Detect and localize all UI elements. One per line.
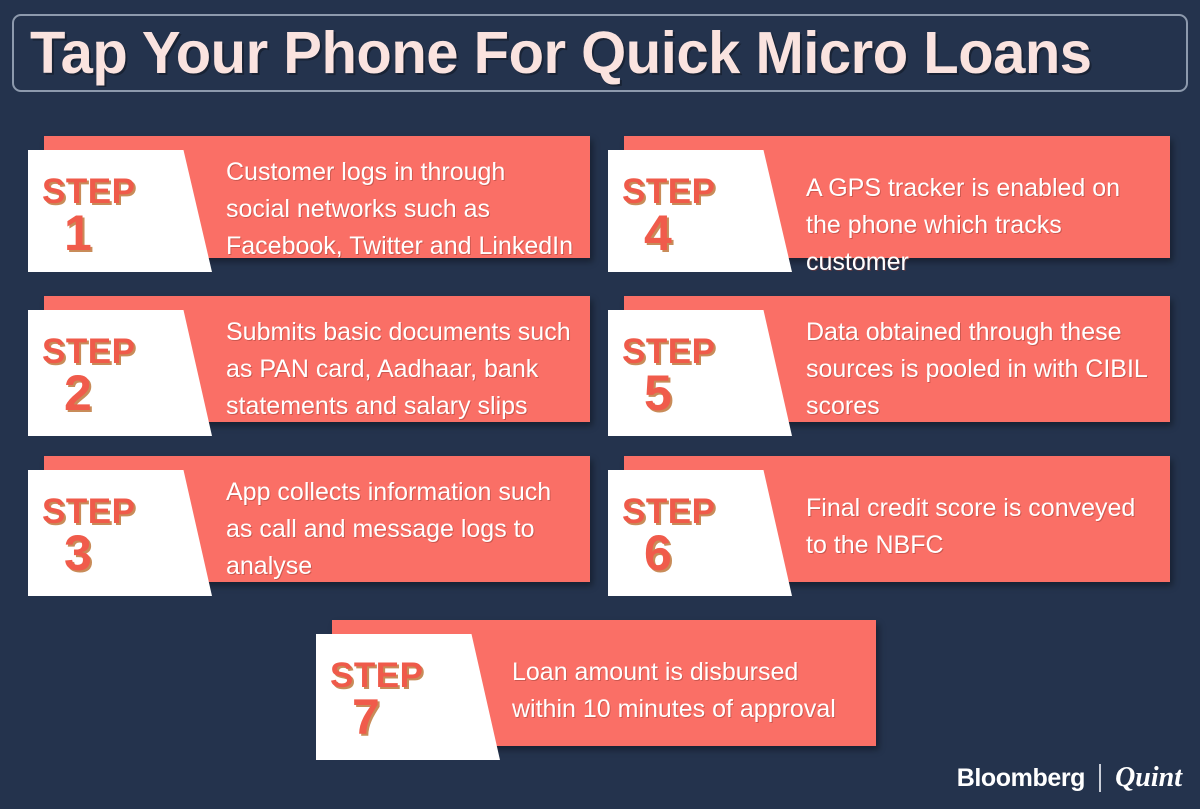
step-label-7: STEP 7: [316, 634, 500, 760]
step-word-label: STEP: [622, 174, 715, 209]
page-title: Tap Your Phone For Quick Micro Loans: [30, 16, 1170, 90]
step-card-6: STEP 6 Final credit score is conveyed to…: [608, 456, 1170, 596]
step-description-2: Submits basic documents such as PAN card…: [226, 314, 576, 425]
step-description-7: Loan amount is disbursed within 10 minut…: [512, 654, 862, 728]
step-description-6: Final credit score is conveyed to the NB…: [806, 490, 1156, 564]
step-word-label: STEP: [42, 494, 135, 529]
step-number-label: 2: [64, 368, 92, 418]
logo-quint-text: Quint: [1115, 763, 1182, 793]
brand-logo: Bloomberg Quint: [957, 761, 1182, 795]
step-label-5: STEP 5: [608, 310, 792, 436]
step-number-label: 1: [64, 208, 92, 258]
step-description-5: Data obtained through these sources is p…: [806, 314, 1156, 425]
step-number-label: 4: [644, 208, 672, 258]
step-word-label: STEP: [42, 334, 135, 369]
step-word-label: STEP: [622, 334, 715, 369]
step-number-label: 6: [644, 528, 672, 578]
step-number-label: 5: [644, 368, 672, 418]
step-label-4: STEP 4: [608, 150, 792, 272]
step-card-2: STEP 2 Submits basic documents such as P…: [28, 296, 590, 436]
step-card-1: STEP 1 Customer logs in through social n…: [28, 136, 590, 272]
step-card-4: STEP 4 A GPS tracker is enabled on the p…: [608, 136, 1170, 272]
step-label-1: STEP 1: [28, 150, 212, 272]
step-word-label: STEP: [42, 174, 135, 209]
step-description-4: A GPS tracker is enabled on the phone wh…: [806, 170, 1156, 281]
logo-bloomberg-text: Bloomberg: [957, 763, 1085, 793]
step-label-6: STEP 6: [608, 470, 792, 596]
infographic-poster: Tap Your Phone For Quick Micro Loans STE…: [0, 0, 1200, 809]
step-word-label: STEP: [622, 494, 715, 529]
step-label-2: STEP 2: [28, 310, 212, 436]
step-card-7: STEP 7 Loan amount is disbursed within 1…: [316, 620, 876, 760]
step-description-3: App collects information such as call an…: [226, 474, 576, 585]
step-word-label: STEP: [330, 658, 423, 693]
step-card-5: STEP 5 Data obtained through these sourc…: [608, 296, 1170, 436]
step-card-3: STEP 3 App collects information such as …: [28, 456, 590, 596]
step-number-label: 7: [352, 692, 380, 742]
step-label-3: STEP 3: [28, 470, 212, 596]
step-number-label: 3: [64, 528, 92, 578]
logo-divider: [1099, 764, 1101, 792]
step-description-1: Customer logs in through social networks…: [226, 154, 576, 265]
